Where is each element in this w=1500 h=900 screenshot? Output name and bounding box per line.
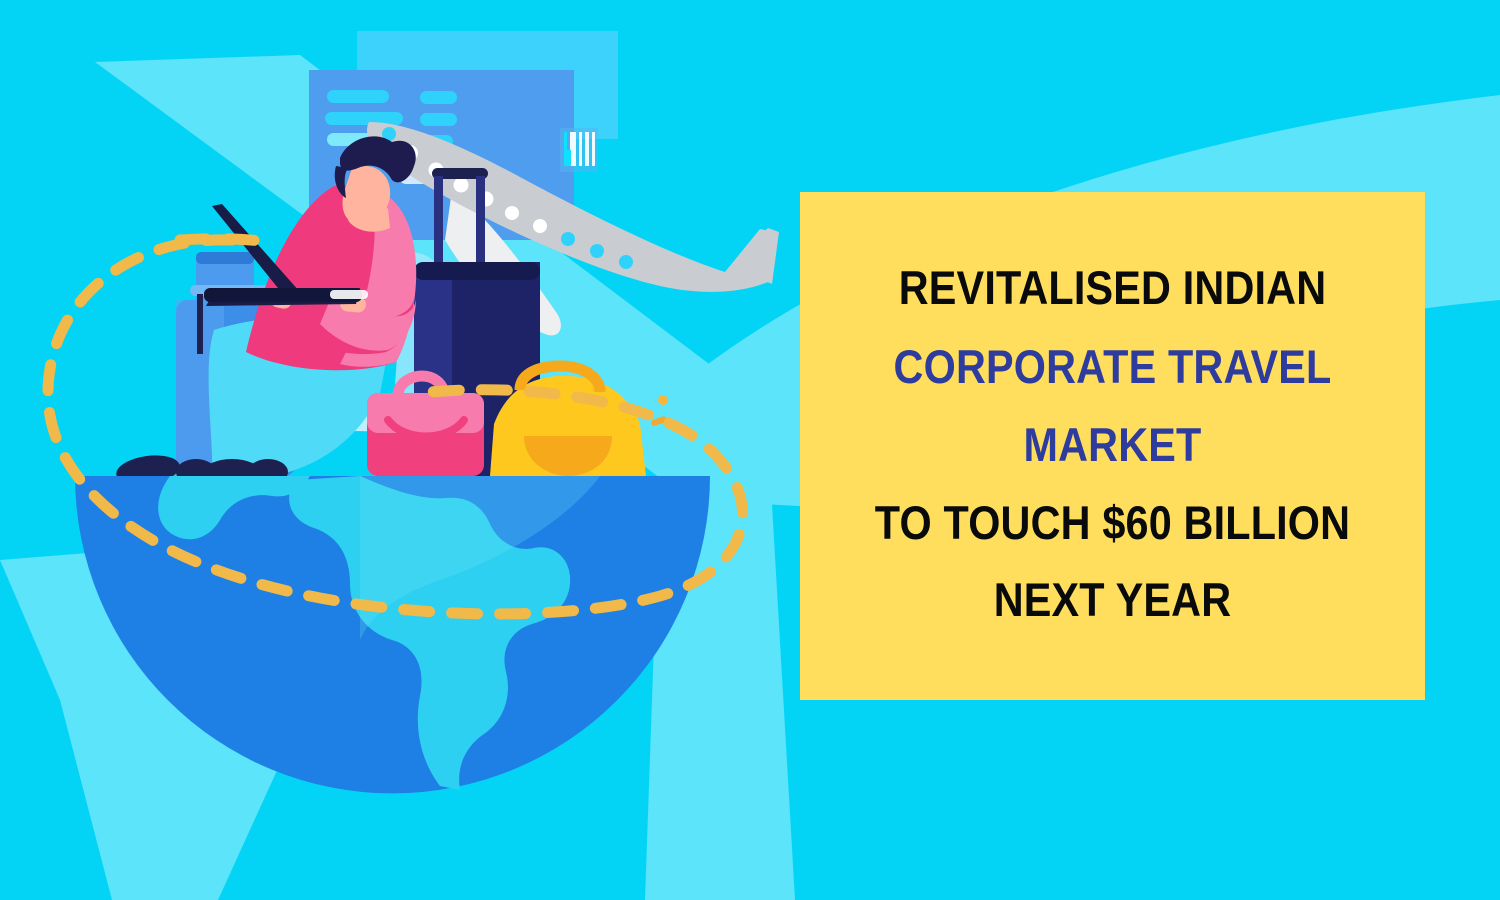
poster-canvas: REVITALISED INDIAN CORPORATE TRAVEL MARK… [0, 0, 1500, 900]
headline-card: REVITALISED INDIAN CORPORATE TRAVEL MARK… [800, 192, 1425, 700]
headline-line-4: TO TOUCH $60 BILLION [850, 499, 1375, 547]
barcode-tag [560, 128, 598, 172]
headline-line-1: REVITALISED INDIAN [850, 264, 1375, 312]
headline-line-3: MARKET [850, 421, 1375, 469]
headline-line-5: NEXT YEAR [850, 576, 1375, 624]
headline-line-2: CORPORATE TRAVEL [850, 343, 1375, 391]
orbit-dash-fragment [180, 239, 268, 242]
board-row [325, 112, 457, 126]
